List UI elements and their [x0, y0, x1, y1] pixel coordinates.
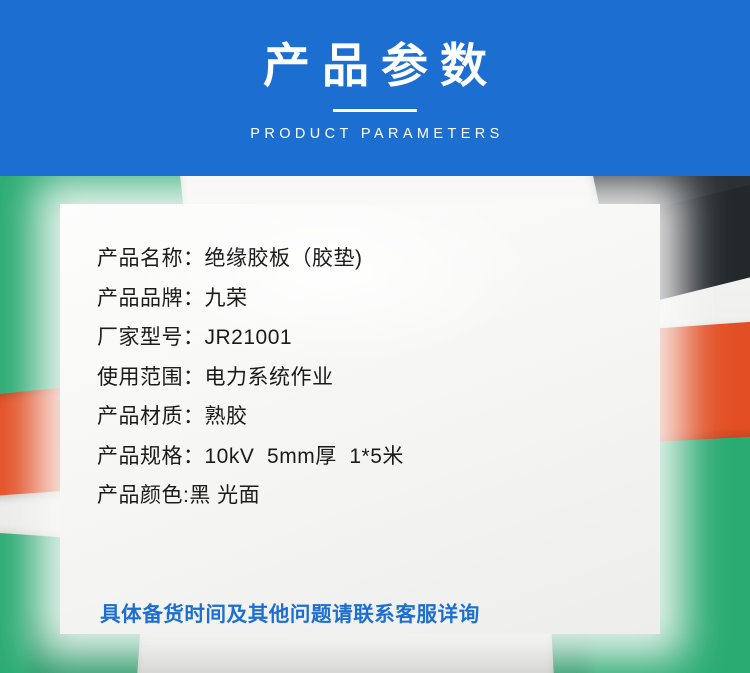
spec-value: JR21001: [205, 326, 293, 349]
spec-value: 绝缘胶板（胶垫): [205, 247, 363, 270]
spec-row: 产品规格：10kV 5mm厚 1*5米: [97, 446, 657, 467]
spec-label: 厂家型号：: [97, 326, 205, 349]
spec-label: 产品品牌：: [97, 287, 205, 310]
spec-value: 黑 光面: [189, 484, 260, 507]
spec-label: 产品规格：: [97, 445, 205, 468]
spec-value: 九荣: [205, 287, 248, 310]
page-subtitle: PRODUCT PARAMETERS: [246, 126, 504, 142]
footnote-text: 具体备货时间及其他问题请联系客服详询: [100, 597, 480, 627]
spec-value: 熟胶: [205, 405, 248, 428]
page-title: 产品参数: [251, 40, 499, 92]
spec-row: 产品颜色:黑 光面: [97, 485, 657, 506]
spec-row: 使用范围：电力系统作业: [97, 367, 657, 388]
product-parameters-page: 产品参数 PRODUCT PARAMETERS 产品名称：绝缘胶板（胶垫) 产品…: [0, 0, 750, 673]
spec-list: 产品名称：绝缘胶板（胶垫) 产品品牌：九荣 厂家型号：JR21001 使用范围：…: [97, 248, 657, 525]
title-divider: [333, 109, 417, 112]
spec-label: 产品材质：: [97, 405, 205, 428]
page-header: 产品参数 PRODUCT PARAMETERS: [0, 0, 750, 176]
spec-label: 产品名称：: [97, 247, 205, 270]
spec-label: 使用范围：: [97, 366, 205, 389]
spec-value: 10kV 5mm厚 1*5米: [205, 445, 404, 468]
spec-row: 产品品牌：九荣: [97, 288, 657, 309]
spec-label: 产品颜色:: [97, 484, 189, 507]
spec-value: 电力系统作业: [205, 366, 334, 389]
spec-row: 产品材质：熟胶: [97, 406, 657, 427]
spec-row: 产品名称：绝缘胶板（胶垫): [97, 248, 657, 269]
spec-row: 厂家型号：JR21001: [97, 327, 657, 348]
